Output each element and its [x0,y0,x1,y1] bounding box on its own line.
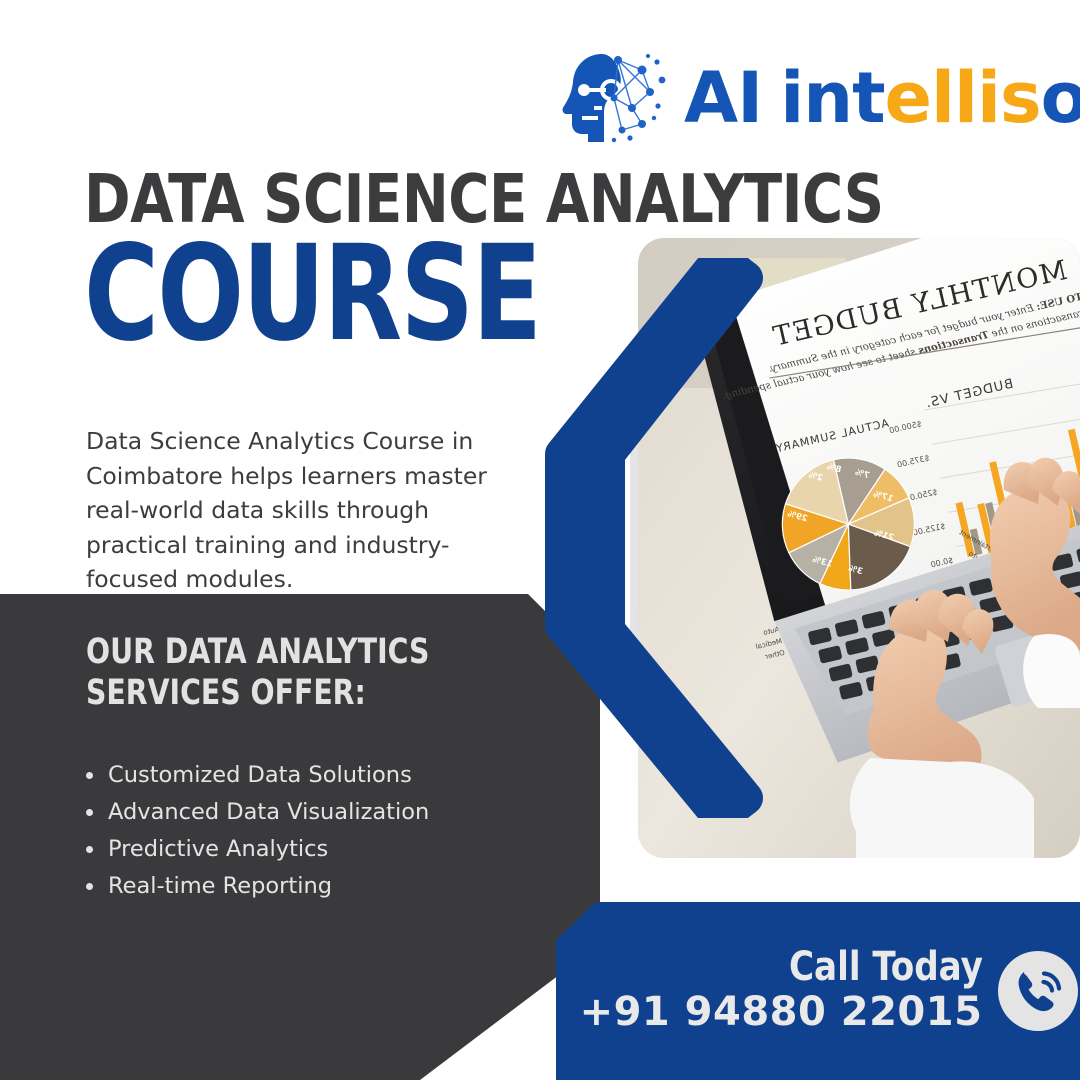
svg-text:29%: 29% [786,509,809,524]
svg-text:$375.00: $375.00 [896,453,930,469]
services-list: Customized Data Solutions Advanced Data … [78,757,528,905]
brand-name-o: o [1041,63,1080,133]
brand-logo[interactable]: AI int ellis o ft [558,42,1058,154]
svg-text:Food: Food [1008,540,1027,555]
svg-text:21%: 21% [872,528,895,543]
svg-text:$500.00: $500.00 [888,419,922,435]
brand-name-ellis: ellis [885,63,1041,133]
list-item: Predictive Analytics [78,831,528,868]
svg-text:Home: Home [1025,533,1047,550]
brand-name-ai: AI [684,63,762,133]
svg-text:3%: 3% [847,564,864,578]
svg-text:17%: 17% [872,489,895,504]
phone-call-icon[interactable] [996,949,1080,1033]
poster-canvas: AI int ellis o ft DATA SCIENCE ANALYTICS… [0,0,1080,1080]
svg-text:Medical: Medical [1040,526,1067,546]
call-to-action-content[interactable]: Call Today +91 94880 22015 [556,902,1080,1080]
svg-text:Personal Items: Personal Items [787,624,839,643]
svg-text:Entertainment: Entertainment [785,612,836,631]
list-item: Real-time Reporting [78,868,528,905]
svg-text:7%: 7% [853,468,870,482]
svg-text:Home: Home [897,593,919,605]
svg-text:$250.00: $250.00 [904,487,938,503]
blue-chevron-accent [520,258,780,818]
svg-text:Auto: Auto [967,550,985,565]
services-panel-title: OUR DATA ANALYTICS SERVICES OFFER: [86,632,464,714]
svg-text:HOW TO USE: Enter your budget: HOW TO USE: Enter your budget for each c… [768,284,1080,374]
svg-text:ACTUAL SUMMARY: ACTUAL SUMMARY [774,417,890,456]
svg-text:MONTHLY BUDGET: MONTHLY BUDGET [769,255,1070,353]
list-item-label: Predictive Analytics [108,836,328,862]
svg-text:Budget: Budget [1012,588,1042,603]
lead-paragraph: Data Science Analytics Course in Coimbat… [86,424,516,597]
svg-text:Personal Items: Personal Items [1038,509,1080,541]
bullet-icon [86,883,93,890]
services-title-line-1: OUR DATA ANALYTICS [86,632,464,673]
svg-text:Actual: Actual [1074,574,1080,588]
call-to-action-text: Call Today +91 94880 22015 [580,947,983,1034]
list-item-label: Real-time Reporting [108,873,332,899]
list-item: Customized Data Solutions [78,757,528,794]
phone-number[interactable]: +91 94880 22015 [580,991,983,1034]
svg-text:$125.00: $125.00 [912,521,946,537]
svg-text:Travel: Travel [858,614,881,627]
list-item: Advanced Data Visualization [78,794,528,831]
svg-text:13%: 13% [811,555,834,570]
ai-head-network-icon [558,46,670,150]
bullet-icon [86,846,93,853]
svg-text:Entertainment: Entertainment [958,528,1006,560]
svg-text:2%: 2% [807,470,824,484]
bullet-icon [86,809,93,816]
brand-name: AI int ellis o ft [684,63,1080,133]
svg-text:8%: 8% [825,462,842,476]
services-title-line-2: SERVICES OFFER: [86,673,464,714]
hero-photo-area: MONTHLY BUDGET HOW TO USE: Enter your bu… [520,228,1080,868]
svg-text:Food: Food [859,603,877,615]
brand-name-int: int [780,63,884,133]
bullet-icon [86,772,93,779]
svg-text:$0.00: $0.00 [930,556,954,570]
list-item-label: Customized Data Solutions [108,762,412,788]
call-today-label: Call Today [600,947,983,987]
svg-text:Utilities: Utilities [893,605,921,619]
list-item-label: Advanced Data Visualization [108,799,429,825]
svg-text:BUDGET VS.: BUDGET VS. [924,377,1015,412]
